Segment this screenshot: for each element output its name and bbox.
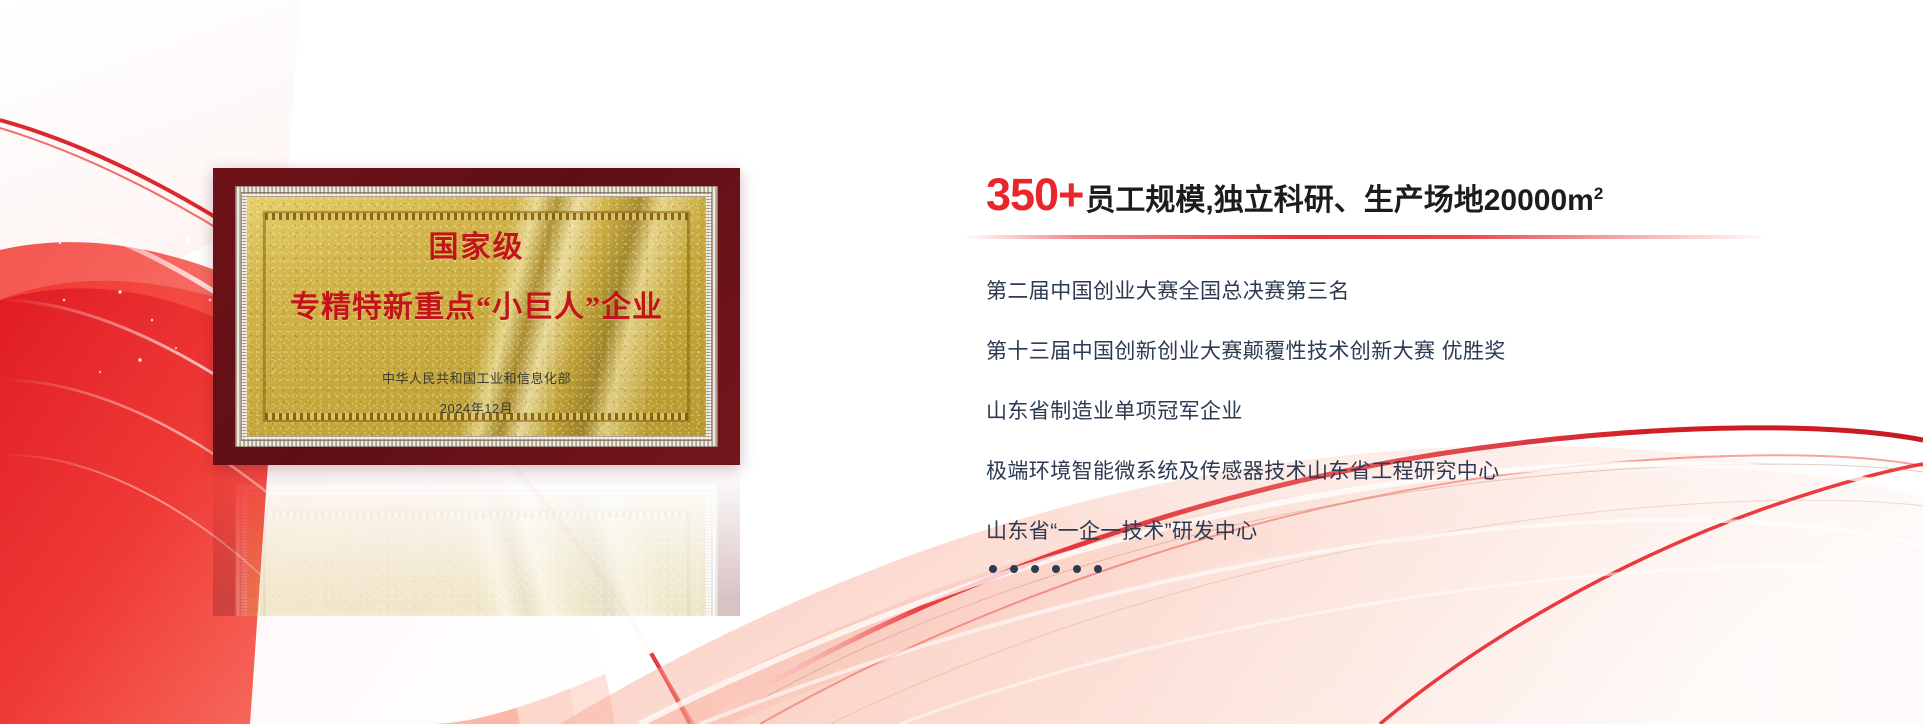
ellipsis-dot bbox=[1031, 565, 1039, 573]
headline-divider bbox=[964, 235, 1770, 239]
ellipsis-dots bbox=[986, 565, 1866, 573]
award-plaque: 国家级 专精特新重点“小巨人”企业 中华人民共和国工业和信息化部 2024年12… bbox=[213, 168, 740, 465]
list-item: 第二届中国创业大赛全国总决赛第三名 bbox=[986, 275, 1866, 305]
headline-text-main: 员工规模,独立科研、生产场地20000m bbox=[1085, 184, 1593, 217]
plaque-reflection-inner-frame bbox=[263, 509, 690, 616]
ellipsis-dot bbox=[1094, 565, 1102, 573]
plaque-reflection bbox=[213, 466, 740, 616]
headline-text: 员工规模,独立科研、生产场地20000m2 bbox=[1085, 185, 1603, 216]
plaque-text-block: 国家级 专精特新重点“小巨人”企业 中华人民共和国工业和信息化部 2024年12… bbox=[213, 168, 740, 465]
headline-number: 350+ bbox=[986, 172, 1083, 217]
plaque-title-line1: 国家级 bbox=[429, 222, 525, 266]
plaque-reflection-gold bbox=[247, 495, 706, 616]
headline: 350+ 员工规模,独立科研、生产场地20000m2 bbox=[986, 172, 1866, 217]
ellipsis-dot bbox=[1052, 565, 1060, 573]
promo-banner: 国家级 专精特新重点“小巨人”企业 中华人民共和国工业和信息化部 2024年12… bbox=[0, 0, 1923, 724]
list-item: 极端环境智能微系统及传感器技术山东省工程研究中心 bbox=[986, 455, 1866, 485]
plaque-issuer: 中华人民共和国工业和信息化部 bbox=[382, 368, 571, 387]
plaque-date: 2024年12月 bbox=[440, 398, 513, 417]
award-list: 第二届中国创业大赛全国总决赛第三名 第十三届中国创新创业大赛颠覆性技术创新大赛 … bbox=[986, 275, 1866, 545]
plaque-title-line2: 专精特新重点“小巨人”企业 bbox=[290, 282, 663, 326]
headline-superscript: 2 bbox=[1594, 184, 1603, 203]
list-item: 山东省“一企一技术”研发中心 bbox=[986, 515, 1866, 545]
list-item: 山东省制造业单项冠军企业 bbox=[986, 395, 1866, 425]
ellipsis-dot bbox=[1010, 565, 1018, 573]
list-item: 第十三届中国创新创业大赛颠覆性技术创新大赛 优胜奖 bbox=[986, 335, 1866, 365]
plaque-frame: 国家级 专精特新重点“小巨人”企业 中华人民共和国工业和信息化部 2024年12… bbox=[213, 168, 740, 465]
content-column: 350+ 员工规模,独立科研、生产场地20000m2 第二届中国创业大赛全国总决… bbox=[986, 172, 1866, 573]
ellipsis-dot bbox=[1073, 565, 1081, 573]
plaque-reflection-frame bbox=[213, 466, 740, 616]
plaque-reflection-ornate bbox=[235, 484, 718, 616]
ellipsis-dot bbox=[989, 565, 997, 573]
